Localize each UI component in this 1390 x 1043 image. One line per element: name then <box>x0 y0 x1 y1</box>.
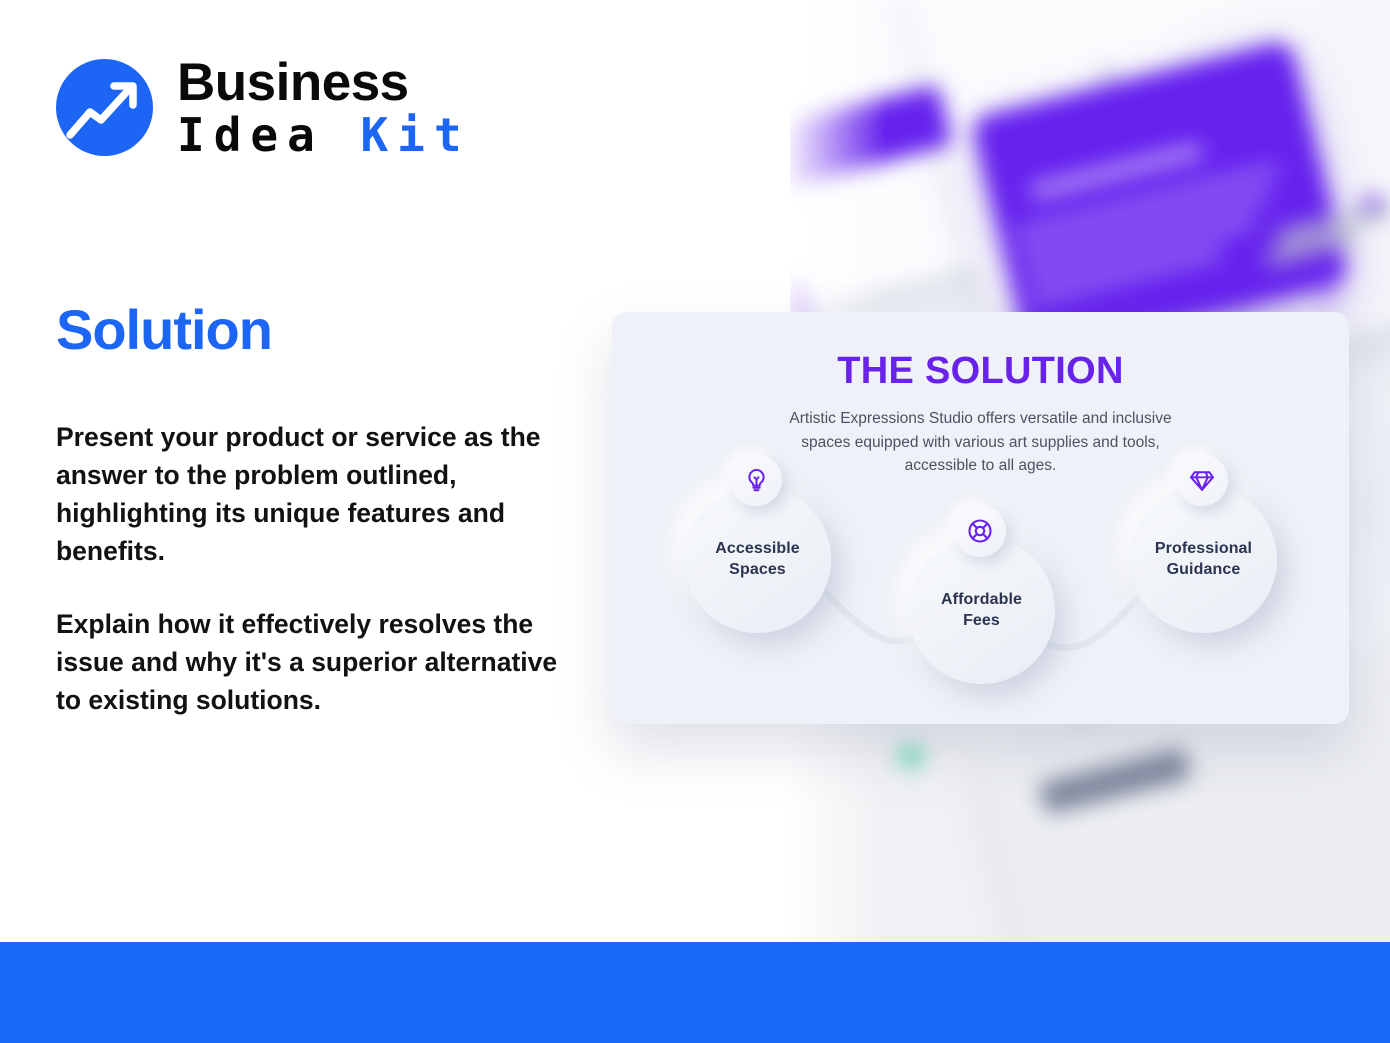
node-label: Accessible Spaces <box>715 539 800 580</box>
solution-node-group: Accessible Spaces <box>612 460 1349 724</box>
node-label-line1: Accessible <box>715 540 800 557</box>
background-dot <box>1320 290 1336 306</box>
node-label-line2: Guidance <box>1167 561 1241 578</box>
brand-name-line2: Idea Kit <box>177 112 471 158</box>
brand-wordmark: Business Idea Kit <box>177 56 471 158</box>
node-label-line2: Fees <box>963 612 1000 629</box>
background-dot <box>900 745 922 767</box>
node-label-line1: Affordable <box>941 591 1022 608</box>
node-label-line2: Spaces <box>729 561 786 578</box>
footer-bar <box>0 942 1390 1043</box>
growth-arrow-icon <box>56 59 153 156</box>
body-copy: Present your product or service as the a… <box>56 418 586 719</box>
diamond-icon <box>1176 454 1228 506</box>
brand-name-line1: Business <box>177 56 471 109</box>
lifebuoy-icon <box>954 505 1006 557</box>
node-bubble[interactable]: Professional Guidance <box>1130 486 1277 633</box>
node-bubble[interactable]: Accessible Spaces <box>684 486 831 633</box>
node-label: Affordable Fees <box>941 590 1022 631</box>
node-label-line1: Professional <box>1155 540 1252 557</box>
solution-card: THE SOLUTION Artistic Expressions Studio… <box>612 312 1349 724</box>
brand-name-kit: Kit <box>360 108 470 162</box>
body-paragraph: Explain how it effectively resolves the … <box>56 605 586 719</box>
brand-name-idea: Idea <box>177 108 324 162</box>
lightbulb-icon <box>730 454 782 506</box>
body-paragraph: Present your product or service as the a… <box>56 418 586 571</box>
node-bubble[interactable]: Affordable Fees <box>908 537 1055 684</box>
solution-card-title: THE SOLUTION <box>612 350 1349 393</box>
node-label: Professional Guidance <box>1155 539 1252 580</box>
page-title: Solution <box>56 297 272 362</box>
slide-root: Business Idea Kit Solution Present your … <box>0 0 1390 1043</box>
brand-logo: Business Idea Kit <box>56 56 471 158</box>
